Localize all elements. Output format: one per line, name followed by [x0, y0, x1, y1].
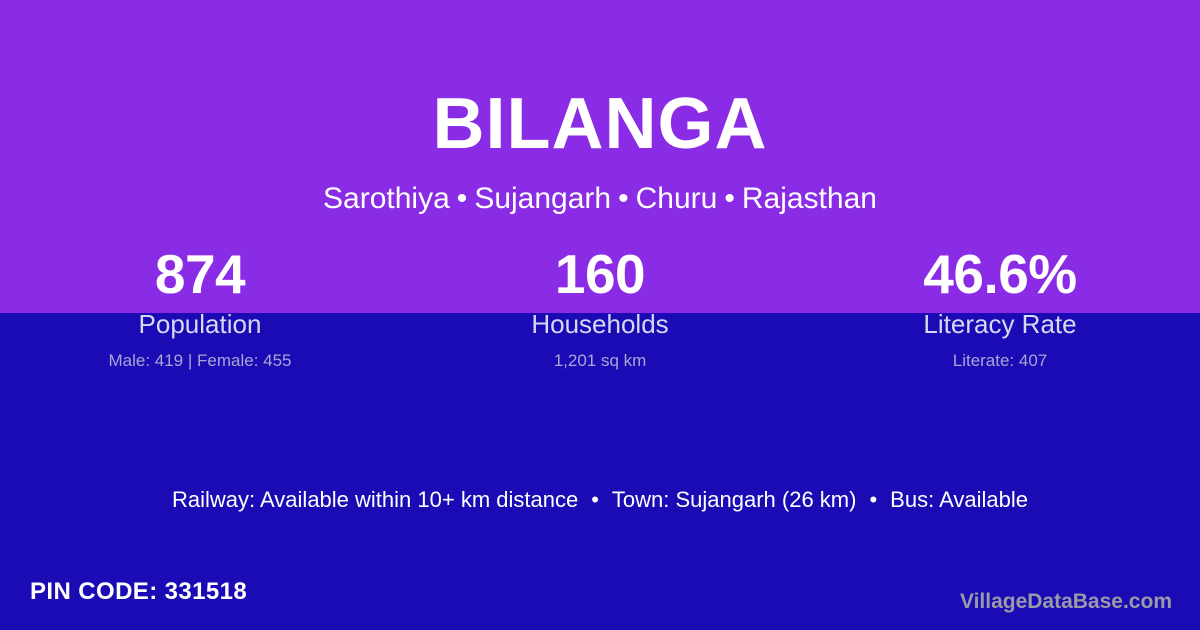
stat-households: 160 Households 1,201 sq km — [400, 246, 800, 371]
amenities-line: Railway: Available within 10+ km distanc… — [0, 486, 1200, 515]
stat-value: 874 — [0, 246, 400, 304]
stat-label: Households — [400, 310, 800, 340]
stats-row: 874 Population Male: 419 | Female: 455 1… — [0, 246, 1200, 371]
stat-subtext: Literate: 407 — [800, 351, 1200, 371]
breadcrumb: Sarothiya•Sujangarh•Churu•Rajasthan — [0, 181, 1200, 217]
breadcrumb-separator: • — [717, 182, 742, 215]
village-info-card: BILANGA Sarothiya•Sujangarh•Churu•Rajast… — [0, 0, 1200, 630]
stat-label: Literacy Rate — [800, 310, 1200, 340]
amenity-separator: • — [856, 487, 890, 512]
site-branding: VillageDataBase.com — [960, 589, 1172, 614]
stat-subtext: 1,201 sq km — [400, 351, 800, 371]
breadcrumb-separator: • — [611, 182, 636, 215]
amenity-town: Town: Sujangarh (26 km) — [612, 487, 857, 512]
breadcrumb-separator: • — [450, 182, 475, 215]
stat-value: 46.6% — [800, 246, 1200, 304]
breadcrumb-item-district: Churu — [636, 182, 718, 215]
stat-value: 160 — [400, 246, 800, 304]
amenity-bus: Bus: Available — [890, 487, 1028, 512]
pin-code-label: PIN CODE: 331518 — [30, 578, 247, 607]
breadcrumb-item-state: Rajasthan — [742, 182, 877, 215]
breadcrumb-item-panchayat: Sarothiya — [323, 182, 450, 215]
amenity-railway: Railway: Available within 10+ km distanc… — [172, 487, 578, 512]
stat-literacy-rate: 46.6% Literacy Rate Literate: 407 — [800, 246, 1200, 371]
stat-population: 874 Population Male: 419 | Female: 455 — [0, 246, 400, 371]
amenity-separator: • — [578, 487, 612, 512]
breadcrumb-item-block: Sujangarh — [474, 182, 611, 215]
page-title: BILANGA — [0, 88, 1200, 160]
stat-subtext: Male: 419 | Female: 455 — [0, 351, 400, 371]
stat-label: Population — [0, 310, 400, 340]
